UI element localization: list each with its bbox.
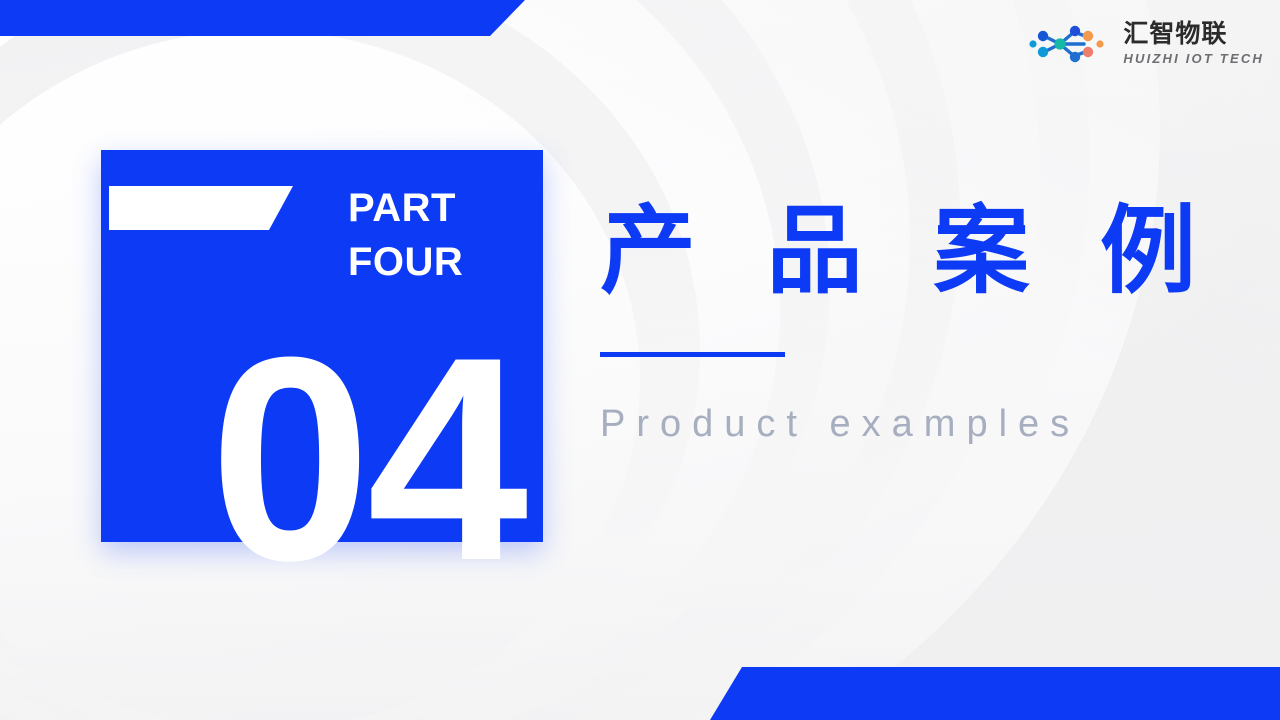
blue-divider-rule	[600, 352, 785, 357]
slide-canvas: PART FOUR 04 产 品 案 例 Product examples	[0, 0, 1280, 720]
part-label: PART FOUR	[348, 181, 463, 290]
logo-company-cn: 汇智物联	[1123, 22, 1264, 47]
network-nodes-icon	[1026, 23, 1114, 65]
logo-company-en: HUIZHI IOT TECH	[1123, 52, 1264, 65]
bottom-right-blue-bar	[710, 667, 1280, 720]
top-left-blue-bar	[0, 0, 525, 36]
section-number-panel: PART FOUR 04	[101, 150, 543, 542]
brand-logo: 汇智物联 HUIZHI IOT TECH	[1026, 22, 1264, 65]
page-title: 产 品 案 例	[600, 200, 1220, 304]
logo-text: 汇智物联 HUIZHI IOT TECH	[1123, 22, 1264, 65]
section-number: 04	[101, 346, 543, 572]
white-slash-accent	[109, 186, 293, 230]
page-subtitle: Product examples	[600, 403, 1220, 446]
headline-block: 产 品 案 例 Product examples	[600, 200, 1220, 446]
part-label-line2: FOUR	[348, 235, 463, 289]
part-label-line1: PART	[348, 181, 463, 235]
